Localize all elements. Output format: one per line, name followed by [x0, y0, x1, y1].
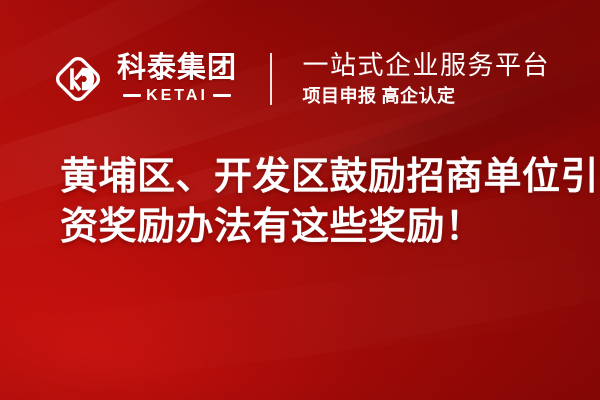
banner-header: 科泰集团 KETAI 一站式企业服务平台 项目申报 高企认定 [0, 36, 600, 122]
wordmark-chinese: 科泰集团 [117, 54, 237, 83]
brand-lockup: 科泰集团 KETAI 一站式企业服务平台 项目申报 高企认定 [50, 51, 550, 108]
headline: 黄埔区、开发区鼓励招商单位引 资奖励办法有这些奖励！ [60, 152, 565, 252]
wordmark: 科泰集团 KETAI [117, 54, 237, 104]
headline-line-1: 黄埔区、开发区鼓励招商单位引 [60, 152, 565, 202]
promo-banner: 科泰集团 KETAI 一站式企业服务平台 项目申报 高企认定 黄埔区、开发区鼓励… [0, 0, 600, 400]
wordmark-english-row: KETAI [123, 88, 231, 104]
tagline-block: 一站式企业服务平台 项目申报 高企认定 [303, 51, 551, 108]
tagline-main: 一站式企业服务平台 [303, 51, 551, 80]
wordmark-dash-right [213, 94, 231, 97]
ketai-diamond-monogram-logo [50, 51, 106, 107]
wordmark-english: KETAI [146, 88, 208, 104]
wordmark-dash-left [123, 94, 141, 97]
headline-line-2: 资奖励办法有这些奖励！ [60, 202, 565, 252]
vertical-divider [270, 53, 272, 105]
tagline-sub: 项目申报 高企认定 [303, 85, 551, 108]
